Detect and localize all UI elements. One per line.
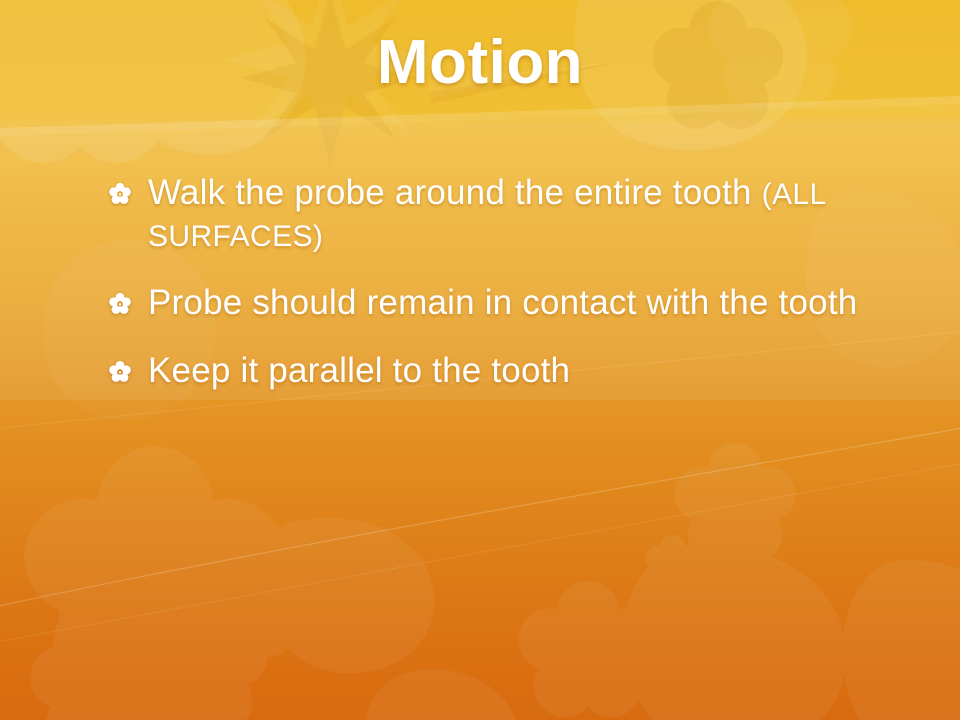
list-item-text: Probe should remain in contact with the … — [148, 282, 857, 324]
list-item-text: Walk the probe around the entire tooth (… — [148, 172, 908, 256]
presentation-slide: Motion — [0, 0, 960, 720]
list-item-main: Keep it parallel to the tooth — [148, 351, 570, 390]
flower-bullet-icon — [108, 182, 132, 206]
list-item-text: Keep it parallel to the tooth — [148, 350, 570, 392]
list-item: Keep it parallel to the tooth — [108, 350, 908, 392]
page-title: Motion — [0, 30, 960, 95]
list-item-main: Probe should remain in contact with the … — [148, 283, 857, 322]
list-item-main: Walk the probe around the entire tooth — [148, 173, 762, 212]
list-item: Walk the probe around the entire tooth (… — [108, 172, 908, 256]
flower-bullet-icon — [108, 360, 132, 384]
bullet-list: Walk the probe around the entire tooth (… — [108, 172, 908, 418]
list-item: Probe should remain in contact with the … — [108, 282, 908, 324]
flower-bullet-icon — [108, 292, 132, 316]
